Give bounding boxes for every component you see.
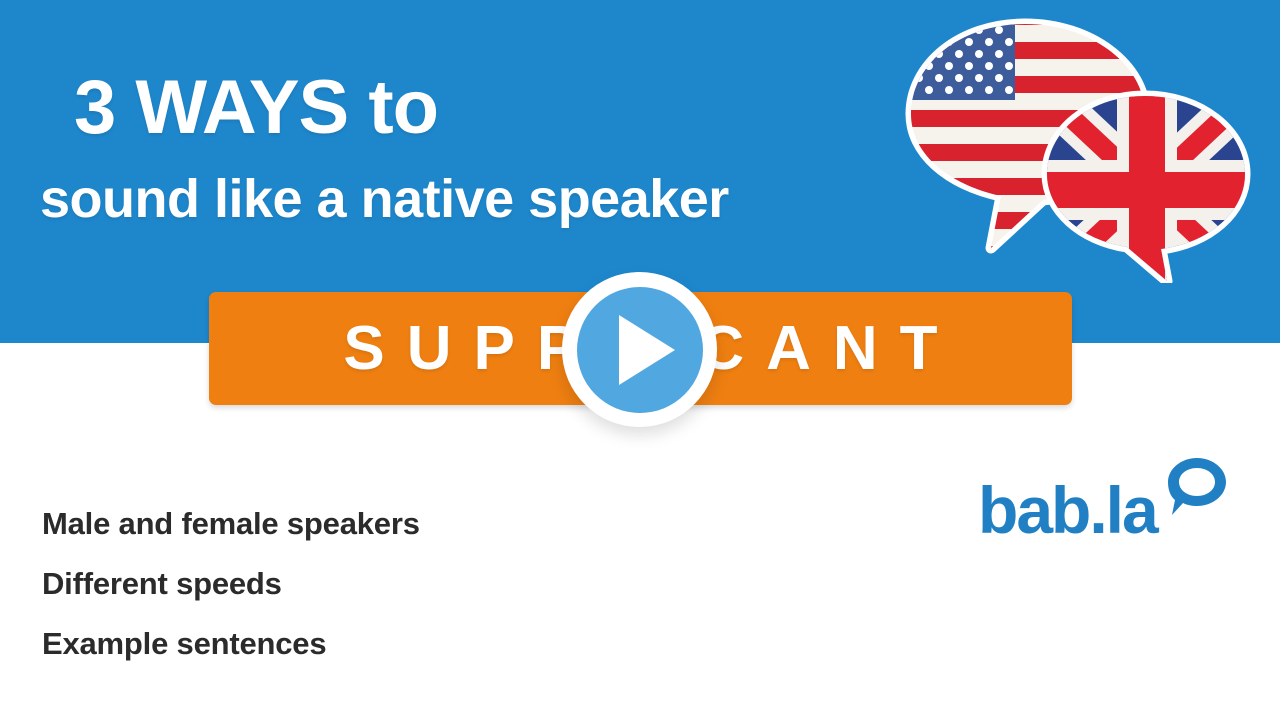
- list-item: Male and female speakers: [42, 494, 420, 554]
- headline-strong: 3 WAYS: [74, 65, 348, 150]
- speech-bubble-icon: [1166, 455, 1230, 540]
- page-subtitle: sound like a native speaker: [40, 172, 729, 226]
- list-item: Example sentences: [42, 614, 420, 674]
- brand-logo[interactable]: bab.la: [978, 455, 1230, 550]
- play-button-disc: [577, 287, 703, 413]
- feature-list: Male and female speakers Different speed…: [42, 494, 420, 674]
- headline-light: to: [348, 65, 438, 150]
- play-triangle-icon: [619, 315, 675, 385]
- play-button[interactable]: [562, 272, 717, 427]
- list-item: Different speeds: [42, 554, 420, 614]
- flag-bubbles-graphic: [895, 8, 1255, 283]
- brand-wordmark: bab.la: [978, 477, 1157, 543]
- video-thumbnail-screen: 3 WAYS to sound like a native speaker: [0, 0, 1280, 720]
- page-title: 3 WAYS to: [74, 70, 438, 146]
